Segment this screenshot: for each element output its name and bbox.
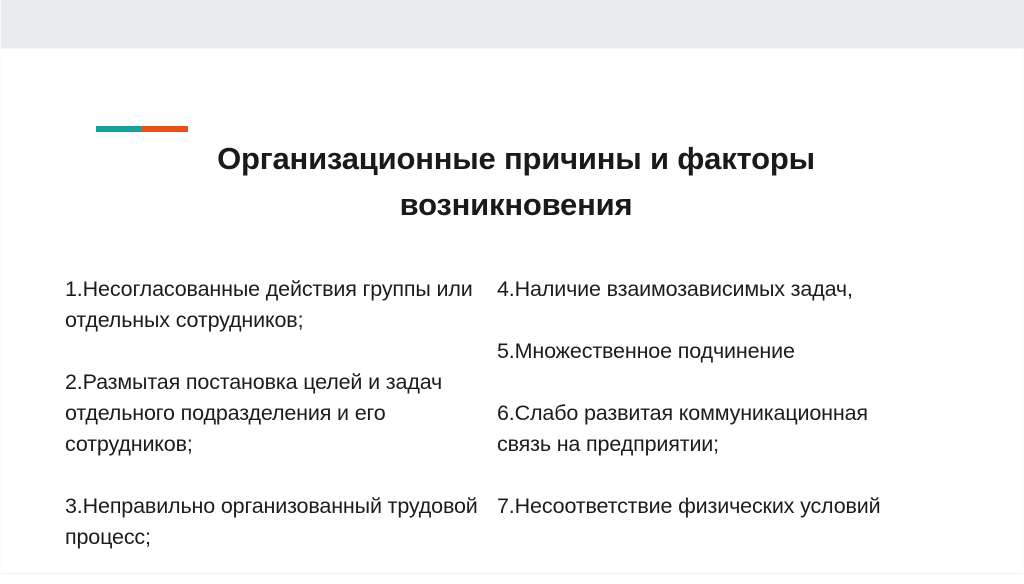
content-columns: 1.Несогласованные действия группы или от… <box>1 243 1024 503</box>
accent-segment-orange <box>142 126 188 132</box>
list-item: 7.Несоответствие физических условий <box>497 491 897 522</box>
list-item: 2.Размытая постановка целей и задач отде… <box>65 367 485 460</box>
list-item: 3.Неправильно организованный трудовой пр… <box>65 491 485 553</box>
slide-canvas: Организационные причины и факторы возник… <box>0 0 1024 574</box>
list-item: 6.Слабо развитая коммуникационная связь … <box>497 398 897 460</box>
title-accent-rule <box>96 126 188 132</box>
list-item: 1.Несогласованные действия группы или от… <box>65 274 485 336</box>
left-column: 1.Несогласованные действия группы или от… <box>65 243 485 584</box>
accent-segment-teal <box>96 126 142 132</box>
right-column: 4.Наличие взаимозависимых задач, 5.Множе… <box>497 243 897 553</box>
slide-title: Организационные причины и факторы возник… <box>141 136 891 228</box>
list-item: 4.Наличие взаимозависимых задач, <box>497 274 897 305</box>
top-banner-bar <box>1 0 1024 49</box>
list-item: 5.Множественное подчинение <box>497 336 897 367</box>
